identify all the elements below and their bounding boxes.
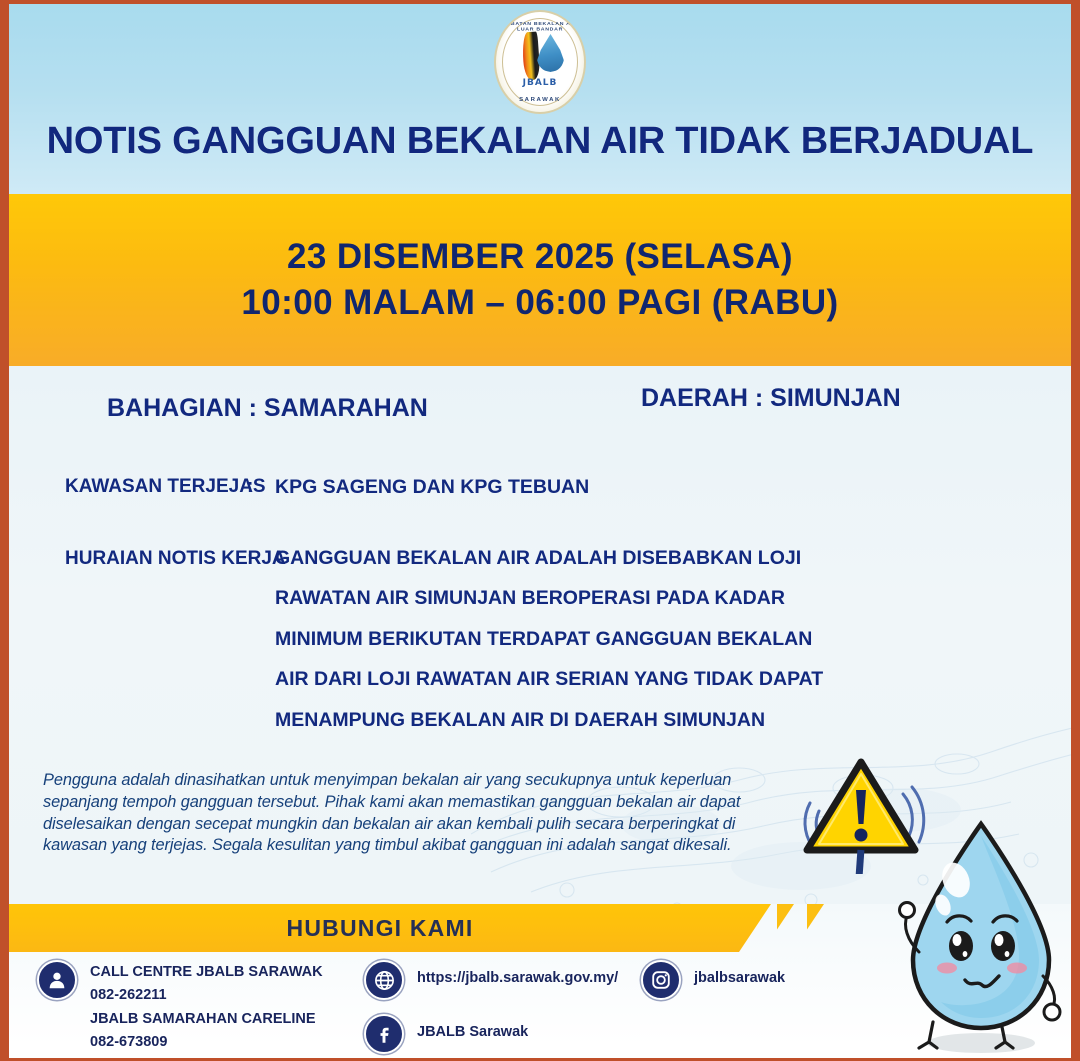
notice-date: 23 DISEMBER 2025 (SELASA)	[287, 237, 793, 277]
district-label: DAERAH : SIMUNJAN	[641, 384, 901, 413]
logo-center-text: JBALB	[496, 78, 584, 88]
careline-phone: 082-673809	[90, 1031, 323, 1054]
work-description-label: HURAIAN NOTIS KERJA	[9, 548, 247, 570]
poster-header: JABATAN BEKALAN AIR LUAR BANDAR JBALB SA…	[9, 4, 1071, 194]
contact-instagram[interactable]: jbalbsarawak	[641, 960, 785, 1000]
call-centre-title: CALL CENTRE JBALB SARAWAK	[90, 961, 323, 984]
call-centre-text: CALL CENTRE JBALB SARAWAK 082-262211 JBA…	[90, 960, 323, 1055]
notice-poster: JABATAN BEKALAN AIR LUAR BANDAR JBALB SA…	[0, 0, 1080, 1061]
facebook-icon	[364, 1014, 404, 1054]
work-description-lines: GANGGUAN BEKALAN AIR ADALAH DISEBABKAN L…	[275, 548, 823, 730]
logo-top-text: JABATAN BEKALAN AIR LUAR BANDAR	[496, 22, 584, 33]
work-description-line: MINIMUM BERIKUTAN TERDAPAT GANGGUAN BEKA…	[275, 629, 823, 649]
careline-title: JBALB SAMARAHAN CARELINE	[90, 1008, 323, 1031]
globe-icon	[364, 960, 404, 1000]
logo-bottom-text: SARAWAK	[496, 97, 584, 102]
affected-area-value: KPG SAGENG DAN KPG TEBUAN	[275, 476, 589, 499]
division-label: BAHAGIAN : SAMARAHAN	[107, 394, 428, 423]
affected-area-row: KAWASAN TERJEJAS : KPG SAGENG DAN KPG TE…	[9, 476, 589, 499]
jbalb-water-drop-logo: JABATAN BEKALAN AIR LUAR BANDAR JBALB SA…	[487, 10, 593, 114]
work-description-row: HURAIAN NOTIS KERJA : GANGGUAN BEKALAN A…	[9, 548, 823, 730]
water-drop-mascot	[893, 810, 1069, 1060]
contact-facebook[interactable]: JBALB Sarawak	[364, 1014, 528, 1054]
contact-call-centre[interactable]: CALL CENTRE JBALB SARAWAK 082-262211 JBA…	[37, 960, 323, 1055]
banner-stripe-decoration	[777, 904, 794, 952]
date-time-banner: 23 DISEMBER 2025 (SELASA) 10:00 MALAM – …	[9, 194, 1071, 366]
instagram-handle: jbalbsarawak	[694, 960, 785, 990]
call-centre-phone: 082-262211	[90, 984, 323, 1007]
advisory-paragraph: Pengguna adalah dinasihatkan untuk menyi…	[43, 770, 783, 857]
instagram-icon	[641, 960, 681, 1000]
contact-website[interactable]: https://jbalb.sarawak.gov.my/	[364, 960, 618, 1000]
page-title: NOTIS GANGGUAN BEKALAN AIR TIDAK BERJADU…	[47, 120, 1034, 163]
notice-time-range: 10:00 MALAM – 06:00 PAGI (RABU)	[241, 283, 838, 323]
work-description-line: RAWATAN AIR SIMUNJAN BEROPERASI PADA KAD…	[275, 588, 823, 608]
contact-banner-title: HUBUNGI KAMI	[287, 915, 494, 942]
affected-area-colon: :	[247, 476, 275, 498]
person-icon	[37, 960, 77, 1000]
affected-area-label: KAWASAN TERJEJAS	[9, 476, 247, 498]
contact-banner: HUBUNGI KAMI	[9, 904, 771, 952]
work-description-colon: :	[247, 548, 275, 570]
work-description-line: MENAMPUNG BEKALAN AIR DI DAERAH SIMUNJAN	[275, 710, 823, 730]
facebook-name: JBALB Sarawak	[417, 1014, 528, 1044]
banner-stripe-decoration	[807, 904, 824, 952]
work-description-line: GANGGUAN BEKALAN AIR ADALAH DISEBABKAN L…	[275, 548, 823, 568]
work-description-line: AIR DARI LOJI RAWATAN AIR SERIAN YANG TI…	[275, 669, 823, 689]
website-url: https://jbalb.sarawak.gov.my/	[417, 960, 618, 990]
